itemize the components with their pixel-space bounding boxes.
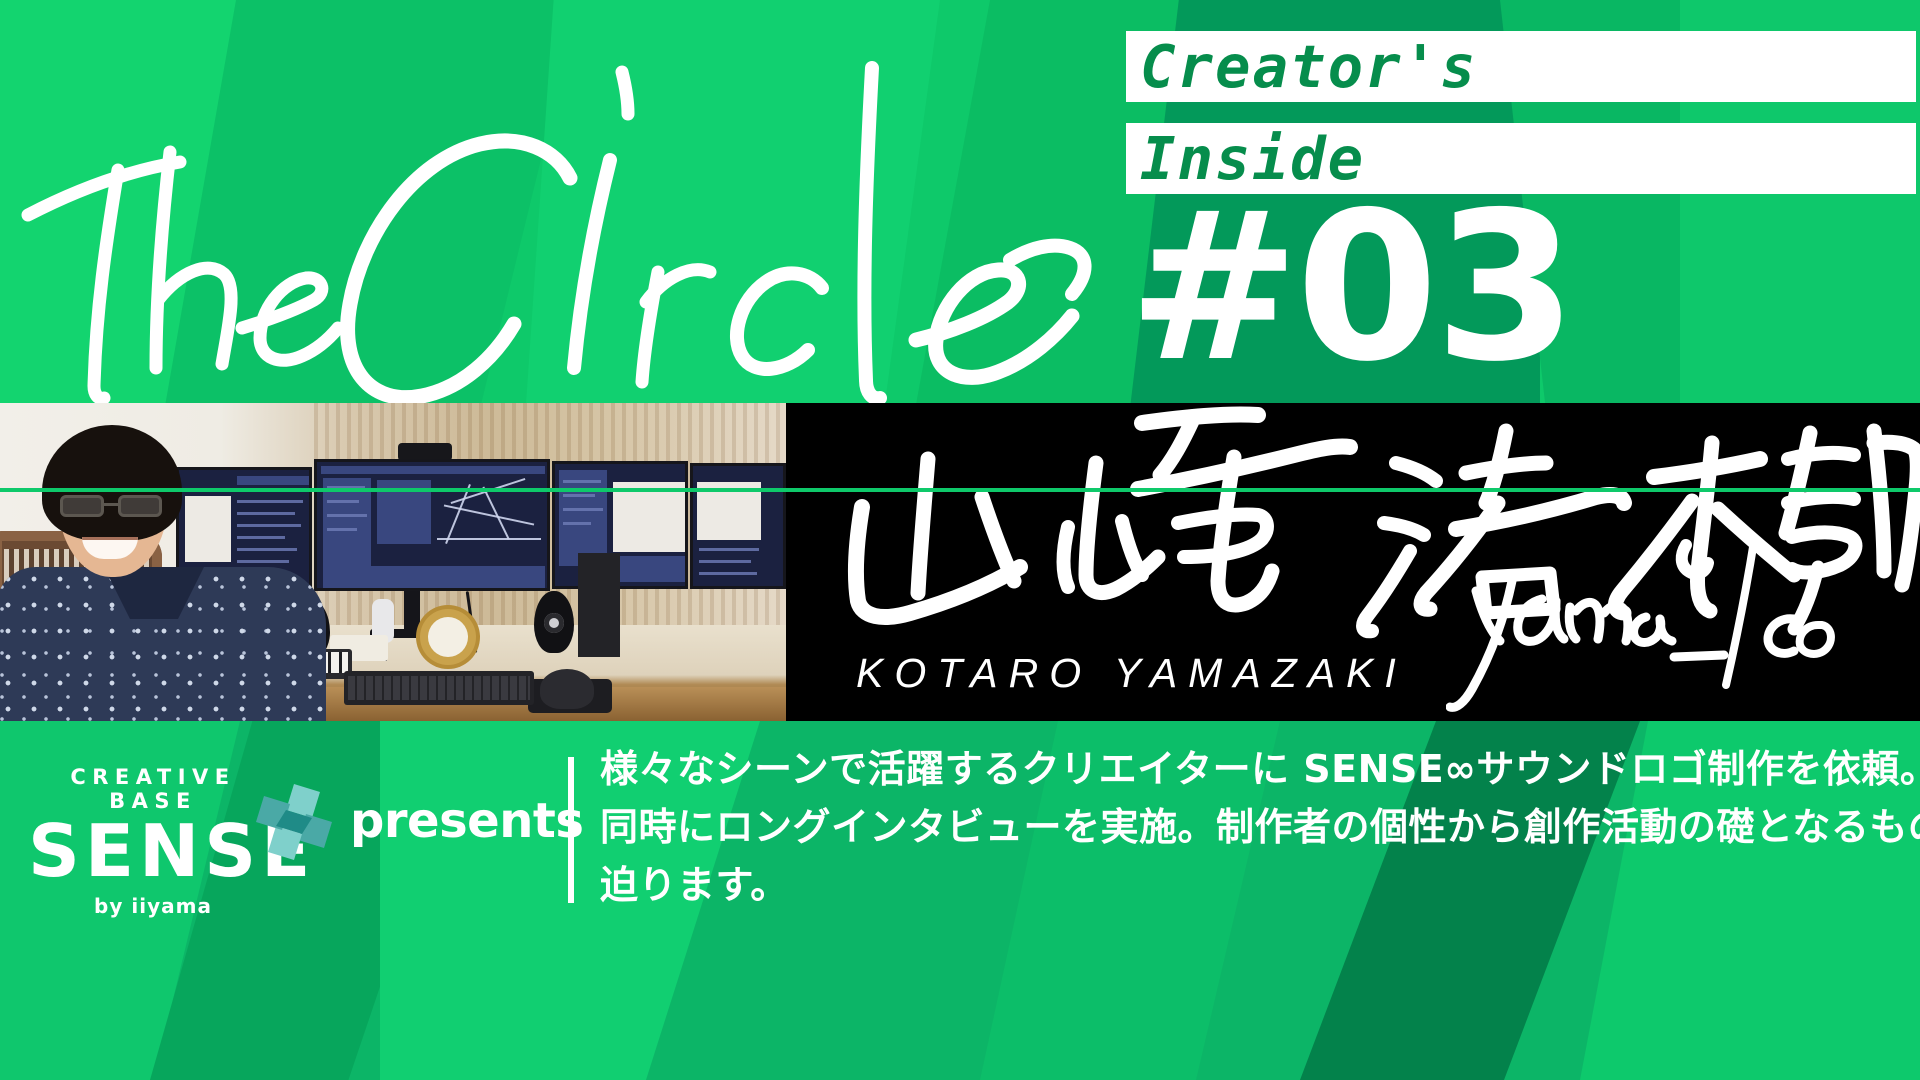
monitor-far-right	[690, 463, 786, 589]
creators-inside-banner: Creator's Inside #03	[0, 0, 1920, 1080]
blurb-line-3: 迫ります。	[600, 857, 1910, 915]
portrait-photo	[0, 403, 786, 721]
keyboard-icon	[344, 671, 534, 705]
handwritten-signature	[1446, 525, 1876, 715]
divider-line	[0, 488, 1920, 492]
issue-number: #03	[1122, 196, 1920, 381]
studio-speaker-icon	[578, 553, 620, 657]
mouse-icon	[540, 669, 594, 709]
hair	[42, 425, 182, 541]
monitor-stand	[404, 591, 420, 631]
footer-blurb: 様々なシーンで活躍するクリエイターに SENSE∞サウンドロゴ制作を依頼。 同時…	[600, 741, 1910, 914]
tag-creators-box: Creator's	[1126, 31, 1916, 102]
speaker-right-icon	[534, 591, 574, 653]
logo-creative-base: CREATIVE BASE	[28, 765, 278, 813]
person-portrait	[0, 421, 350, 721]
alarm-clock-icon	[420, 609, 476, 665]
blurb-line-1: 様々なシーンで活躍するクリエイターに SENSE∞サウンドロゴ制作を依頼。	[600, 741, 1910, 799]
blurb-line-2: 同時にロングインタビューを実施。制作者の個性から創作活動の礎となるものに	[600, 799, 1910, 857]
glasses-icon	[58, 495, 174, 517]
banner-footer: CREATIVE BASE SENSE by iiyama presents 様…	[0, 721, 1920, 1080]
logo-by-iiyama: by iiyama	[28, 894, 278, 918]
romaji-name: KOTARO YAMAZAKI	[856, 650, 1407, 697]
vertical-divider	[568, 757, 574, 903]
logo-sense: SENSE	[28, 817, 278, 886]
presents-label: presents	[350, 793, 583, 849]
tag-creators-label: Creator's	[1140, 37, 1478, 96]
name-panel: KOTARO YAMAZAKI	[786, 403, 1920, 721]
sense-logo[interactable]: CREATIVE BASE SENSE by iiyama	[28, 765, 278, 885]
the-circle-wordmark	[10, 10, 1150, 410]
monitor-right	[552, 461, 688, 589]
iiyama-pinwheel-icon	[250, 778, 338, 866]
